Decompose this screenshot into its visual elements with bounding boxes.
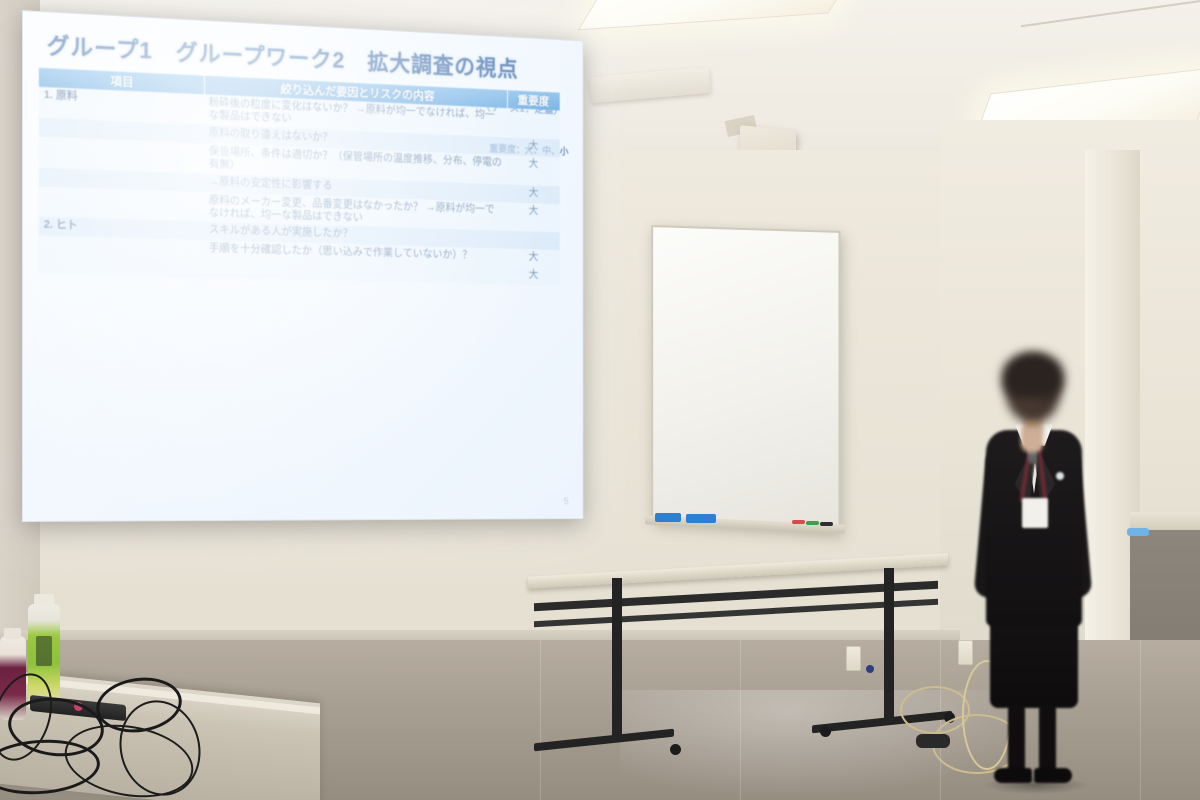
lapel-pin-icon — [1056, 472, 1064, 480]
table-caster — [670, 744, 681, 755]
table-caster — [820, 726, 831, 737]
cell-importance — [507, 108, 560, 139]
whiteboard-marker — [792, 520, 805, 524]
cell-importance: 大 — [507, 137, 560, 157]
projection-screen: グループ1 グループワーク2 拡大調査の視点 （ケース1：定量） 重要度：大、中… — [22, 10, 583, 522]
bottle-cap — [34, 594, 54, 606]
risk-table: 項目 絞り込んだ要因とリスクの内容 重要度 1. 原料 粉砕後の粒度に変化はない… — [39, 68, 560, 286]
cell-importance: 大 — [507, 155, 560, 186]
table-leg — [884, 568, 894, 720]
whiteboard-eraser — [655, 513, 681, 522]
whiteboard-marker — [820, 522, 833, 526]
floor-tile-line — [1140, 640, 1141, 800]
shelf-blue-object — [1127, 528, 1149, 536]
wall-outlet — [846, 646, 861, 671]
slide-content: グループ1 グループワーク2 拡大調査の視点 （ケース1：定量） 重要度：大、中… — [23, 11, 583, 522]
presenter-hair — [1002, 352, 1064, 400]
slide-page-number: 5 — [564, 497, 569, 507]
seminar-room-scene: グループ1 グループワーク2 拡大調査の視点 （ケース1：定量） 重要度：大、中… — [0, 0, 1200, 800]
cell-importance: 大 — [507, 249, 560, 268]
risk-table-body: 1. 原料 粉砕後の粒度に変化はないか？ →原料が均一でなければ、均一な製品はで… — [39, 87, 560, 286]
bottle-cap — [4, 628, 21, 639]
presenter-skirt — [990, 614, 1078, 708]
presenter-leg-right — [1039, 704, 1056, 776]
presenter-leg-left — [1008, 704, 1025, 776]
id-badge — [1022, 498, 1048, 528]
cell-importance: 大 — [507, 267, 560, 286]
table-leg — [612, 578, 622, 738]
cell-category — [39, 186, 204, 222]
presenter — [960, 352, 1100, 800]
bottle-label — [36, 636, 52, 666]
floor-tile-line — [540, 640, 541, 800]
cell-importance: 大 — [507, 184, 560, 204]
presenter-shoe-right — [1034, 768, 1072, 783]
presenter-shoe-left — [994, 768, 1032, 783]
whiteboard-eraser — [686, 514, 716, 523]
whiteboard-marker — [806, 521, 819, 525]
cell-importance: 大 — [507, 202, 560, 233]
microphone-base — [916, 734, 950, 748]
whiteboard — [651, 225, 840, 534]
cell-importance — [507, 231, 560, 250]
cell-category — [39, 255, 204, 278]
presenter-hand — [1021, 426, 1043, 452]
outlet-indicator-icon — [866, 665, 874, 673]
col-header-importance: 重要度 — [507, 90, 560, 110]
